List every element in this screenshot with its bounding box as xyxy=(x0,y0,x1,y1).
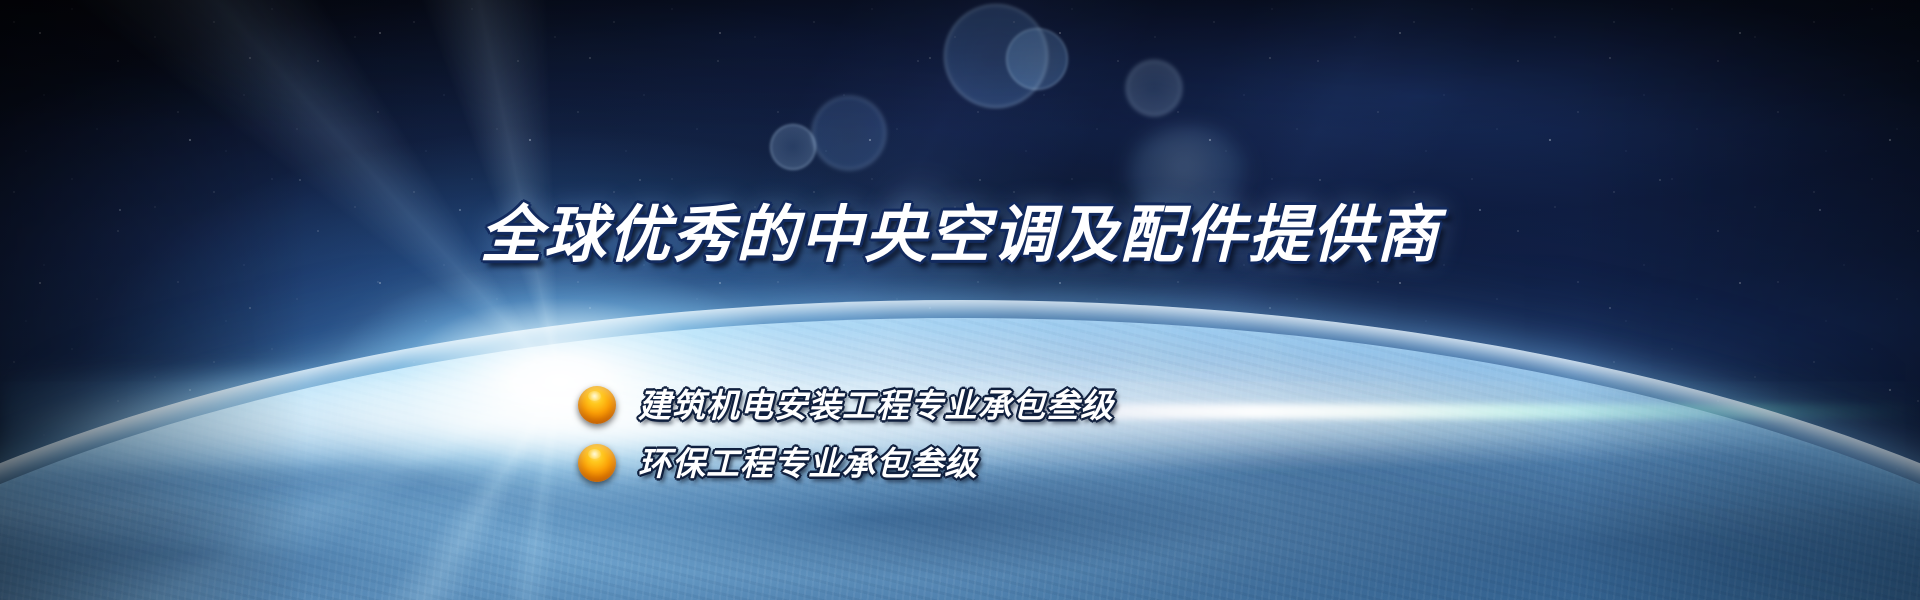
list-item: 建筑机电安装工程专业承包叁级 xyxy=(578,386,1114,424)
qualification-label: 环保工程专业承包叁级 xyxy=(638,447,978,480)
qualification-label: 建筑机电安装工程专业承包叁级 xyxy=(638,389,1114,422)
qualification-list: 建筑机电安装工程专业承包叁级 环保工程专业承包叁级 xyxy=(578,386,1114,482)
hero-banner: 全球优秀的中央空调及配件提供商 建筑机电安装工程专业承包叁级 环保工程专业承包叁… xyxy=(0,0,1920,600)
orange-sphere-bullet-icon xyxy=(578,444,616,482)
orange-sphere-bullet-icon xyxy=(578,386,616,424)
banner-content: 全球优秀的中央空调及配件提供商 建筑机电安装工程专业承包叁级 环保工程专业承包叁… xyxy=(0,0,1920,600)
banner-headline: 全球优秀的中央空调及配件提供商 xyxy=(0,204,1920,266)
list-item: 环保工程专业承包叁级 xyxy=(578,444,1114,482)
